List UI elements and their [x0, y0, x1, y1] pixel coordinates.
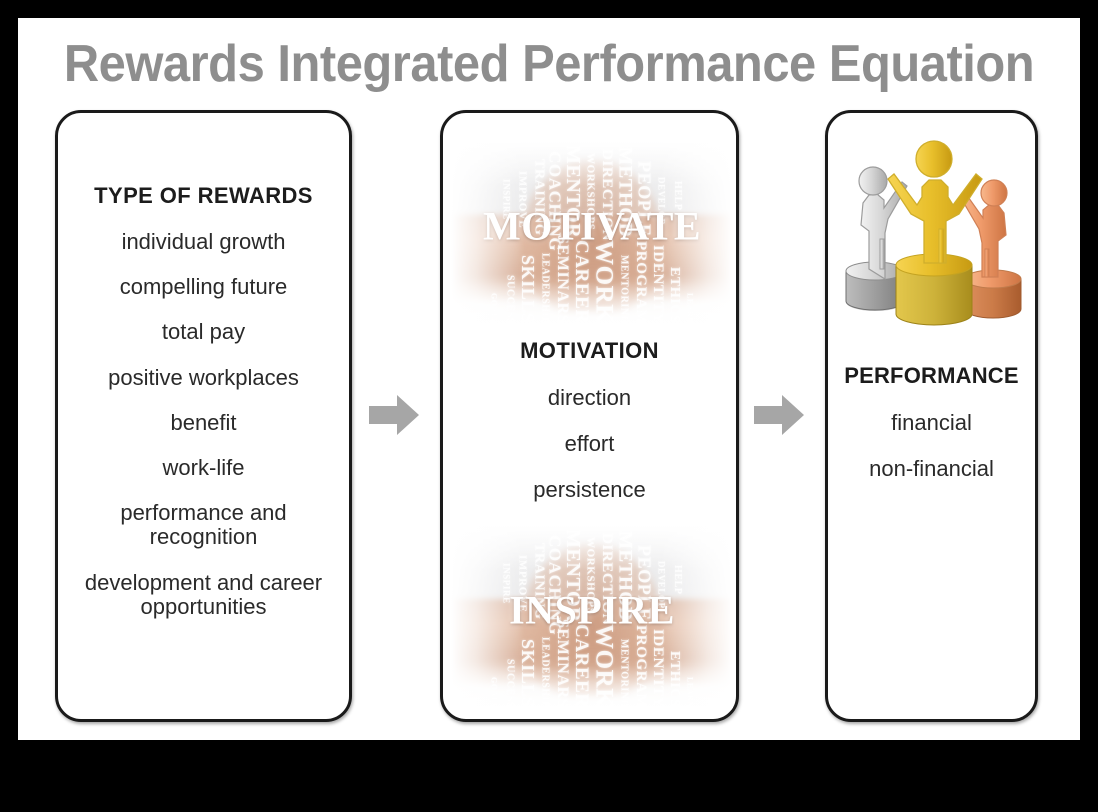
motivation-content: MOTIVATION direction effort persistence — [443, 338, 736, 503]
wc-word: ETHICS — [666, 651, 682, 708]
panel-type-of-rewards: TYPE OF REWARDS individual growth compel… — [55, 110, 352, 722]
wc-word: SKILLS — [517, 639, 538, 708]
wc-word: PROGRAM — [632, 625, 649, 708]
performance-item-financial: financial — [828, 411, 1035, 435]
wc-word: WORK — [590, 624, 618, 708]
arrow-motivation-to-performance-icon — [752, 392, 806, 438]
performance-content: PERFORMANCE financial non-financial — [828, 363, 1035, 481]
motivation-item-effort: effort — [443, 432, 736, 456]
wc-word: LEARN — [686, 293, 695, 324]
wc-word: ETHICS — [666, 267, 682, 324]
wc-word: GOALS — [490, 677, 499, 708]
motivation-item-direction: direction — [443, 386, 736, 410]
wc-word: LEARN — [686, 677, 695, 708]
panel-motivation: INSPIRE IMPROVE TRAINING COACHING MENTOR… — [440, 110, 739, 722]
wc-word: SUCCESS — [505, 275, 516, 324]
winners-podium-icon — [842, 131, 1027, 341]
wordcloud-motivate-image: INSPIRE IMPROVE TRAINING COACHING MENTOR… — [451, 141, 733, 326]
performance-heading: PERFORMANCE — [828, 363, 1035, 389]
wc-word: LEADERSHIP — [540, 253, 551, 324]
rewards-item-development-and-career-opportunities: development and career opportunities — [58, 571, 349, 619]
rewards-item-performance-and-recognition: performance and recognition — [58, 501, 349, 549]
wc-word: GOALS — [490, 293, 499, 324]
wc-word: SKILLS — [517, 255, 538, 324]
wc-word: PROGRAM — [632, 241, 649, 324]
rewards-item-compelling-future: compelling future — [58, 275, 349, 299]
wc-word: LEADERSHIP — [540, 637, 551, 708]
performance-item-non-financial: non-financial — [828, 457, 1035, 481]
podium-place-1-gold — [888, 141, 982, 325]
rewards-item-work-life: work-life — [58, 456, 349, 480]
panel-performance: PERFORMANCE financial non-financial — [825, 110, 1038, 722]
wc-word: IDENTITY — [649, 245, 666, 324]
wordcloud-main-word: INSPIRE — [451, 587, 733, 634]
motivation-heading: MOTIVATION — [443, 338, 736, 364]
rewards-item-total-pay: total pay — [58, 320, 349, 344]
motivation-item-persistence: persistence — [443, 478, 736, 502]
wc-word: IDENTITY — [649, 629, 666, 708]
wc-word: MENTORING — [619, 639, 630, 708]
rewards-item-positive-workplaces: positive workplaces — [58, 366, 349, 390]
rewards-heading: TYPE OF REWARDS — [58, 183, 349, 209]
page-title: Rewards Integrated Performance Equation — [50, 34, 1048, 94]
wordcloud-inspire-image: INSPIRE IMPROVE TRAINING COACHING MENTOR… — [451, 525, 733, 710]
slide-canvas: Rewards Integrated Performance Equation … — [18, 18, 1080, 740]
wc-word: SUCCESS — [505, 659, 516, 708]
arrow-rewards-to-motivation-icon — [367, 392, 421, 438]
rewards-content: TYPE OF REWARDS individual growth compel… — [58, 113, 349, 619]
rewards-item-benefit: benefit — [58, 411, 349, 435]
wc-word: MENTORING — [619, 255, 630, 324]
wc-word: WORK — [590, 240, 618, 324]
image-frame: Rewards Integrated Performance Equation … — [0, 0, 1098, 812]
rewards-item-individual-growth: individual growth — [58, 230, 349, 254]
wordcloud-main-word: MOTIVATE — [451, 203, 733, 250]
